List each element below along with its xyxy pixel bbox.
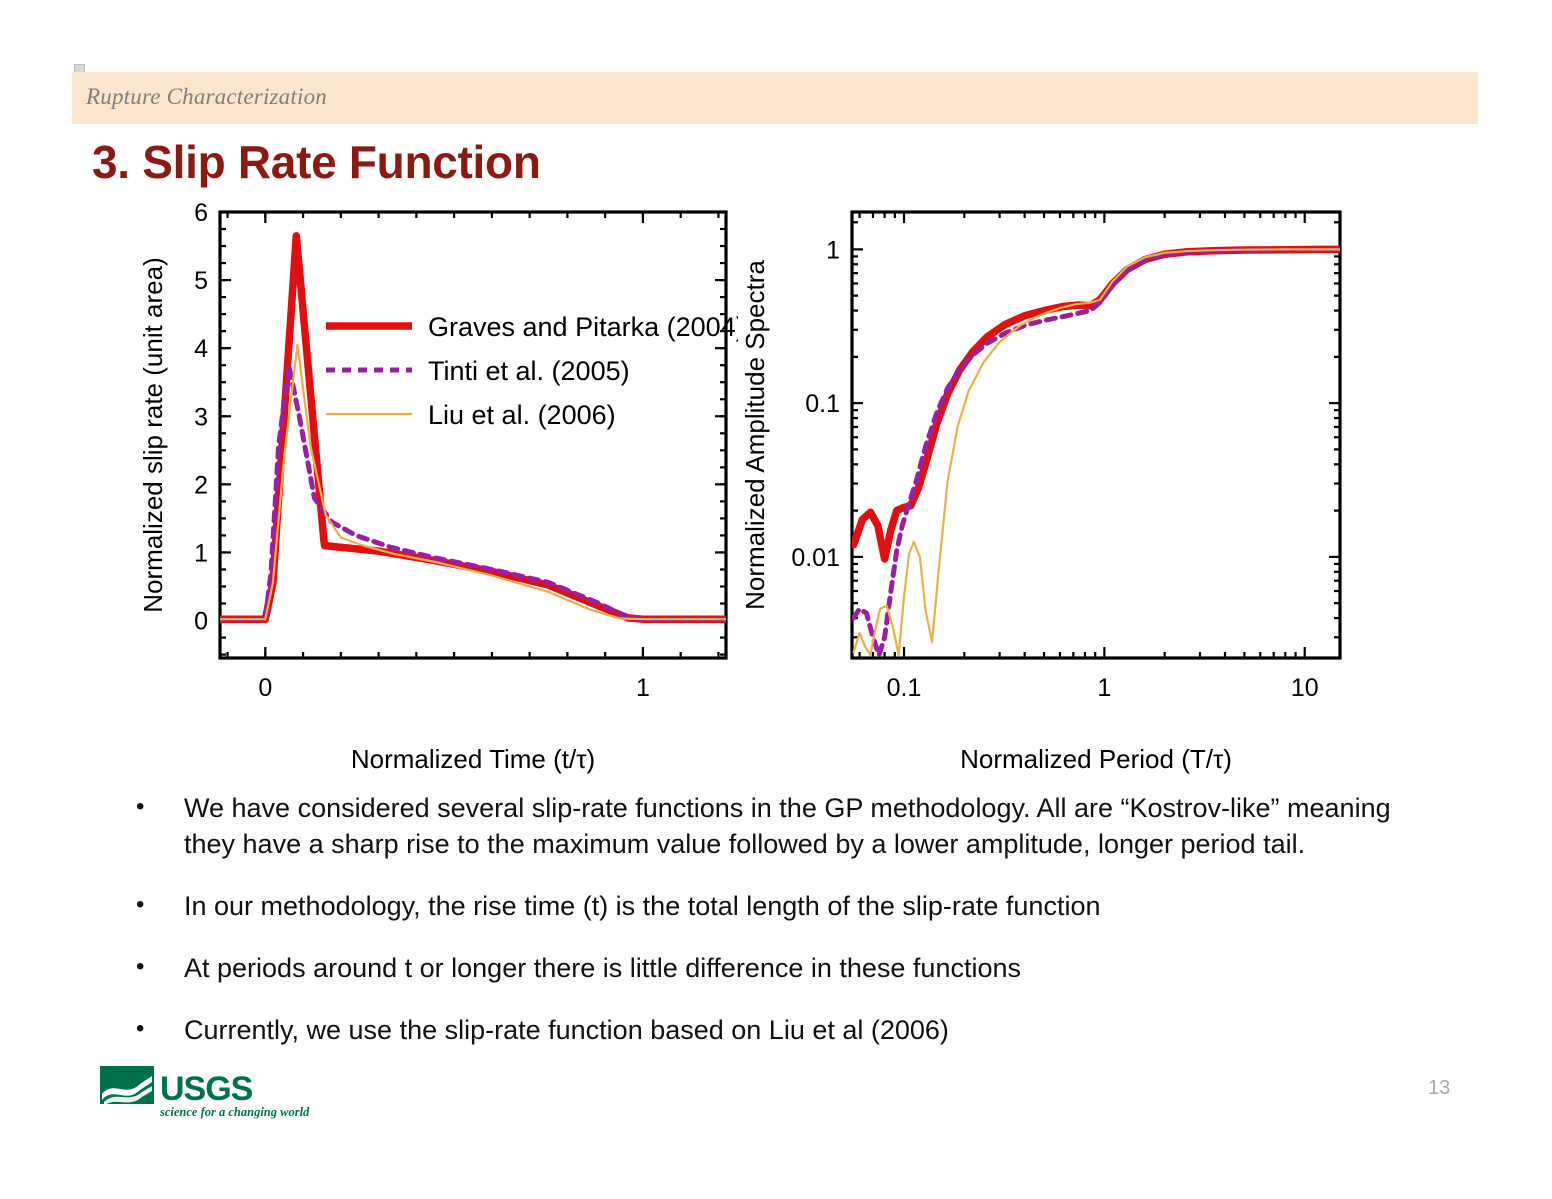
bullet-list: •We have considered several slip-rate fu… [128, 790, 1418, 1074]
x-tick-label: 0 [258, 674, 272, 702]
series-line [854, 249, 1340, 655]
legend-label: Tinti et al. (2005) [428, 356, 630, 386]
chart-slip-rate-time: 010123456Normalized Time (t/τ)Normalized… [138, 196, 738, 776]
x-tick-label: 1 [636, 674, 650, 702]
header-eyebrow-text: Rupture Characterization [86, 84, 327, 110]
y-tick-label: 2 [194, 471, 208, 499]
y-tick-label: 1 [194, 539, 208, 567]
x-axis-label: Normalized Period (T/τ) [960, 744, 1232, 774]
y-tick-label: 0.1 [805, 390, 840, 418]
y-tick-label: 4 [194, 335, 208, 363]
bullet-item: •Currently, we use the slip-rate functio… [128, 1012, 1418, 1048]
y-tick-label: 0 [194, 608, 208, 636]
bullet-item: •We have considered several slip-rate fu… [128, 790, 1418, 862]
slide: Rupture Characterization 3. Slip Rate Fu… [0, 0, 1552, 1199]
bullet-text: Currently, we use the slip-rate function… [184, 1012, 1418, 1048]
svg-text:science for a changing world: science for a changing world [159, 1105, 310, 1119]
usgs-logo: USGS science for a changing world [100, 1064, 330, 1122]
bullet-item: •In our methodology, the rise time (t) i… [128, 888, 1418, 924]
bullet-marker-icon: • [128, 790, 184, 824]
chart-amplitude-spectra: 0.11100.010.11Normalized Period (T/τ)Nor… [740, 196, 1360, 776]
y-tick-label: 1 [826, 236, 840, 264]
x-axis-label: Normalized Time (t/τ) [351, 744, 595, 774]
x-tick-label: 0.1 [887, 674, 922, 702]
y-tick-label: 0.01 [791, 544, 840, 572]
x-tick-label: 10 [1291, 674, 1319, 702]
bullet-text: At periods around t or longer there is l… [184, 950, 1418, 986]
bullet-marker-icon: • [128, 888, 184, 922]
bullet-marker-icon: • [128, 950, 184, 984]
bullet-text: In our methodology, the rise time (t) is… [184, 888, 1418, 924]
legend-label: Liu et al. (2006) [428, 400, 616, 430]
x-tick-label: 1 [1097, 674, 1111, 702]
plot-frame [852, 212, 1340, 658]
y-tick-label: 3 [194, 403, 208, 431]
page-number: 13 [1428, 1077, 1450, 1100]
y-axis-label: Normalized Amplitude Spectra [740, 260, 770, 610]
legend-label: Graves and Pitarka (2004) [428, 312, 738, 342]
bullet-item: •At periods around t or longer there is … [128, 950, 1418, 986]
figure-area: 010123456Normalized Time (t/τ)Normalized… [0, 196, 1552, 786]
series-line [854, 249, 1340, 559]
svg-text:USGS: USGS [160, 1070, 253, 1108]
page-title: 3. Slip Rate Function [92, 135, 541, 189]
y-tick-label: 5 [194, 267, 208, 295]
bullet-text: We have considered several slip-rate fun… [184, 790, 1414, 862]
y-axis-label: Normalized slip rate (unit area) [138, 257, 168, 612]
y-tick-label: 6 [194, 199, 208, 227]
bullet-marker-icon: • [128, 1012, 184, 1046]
